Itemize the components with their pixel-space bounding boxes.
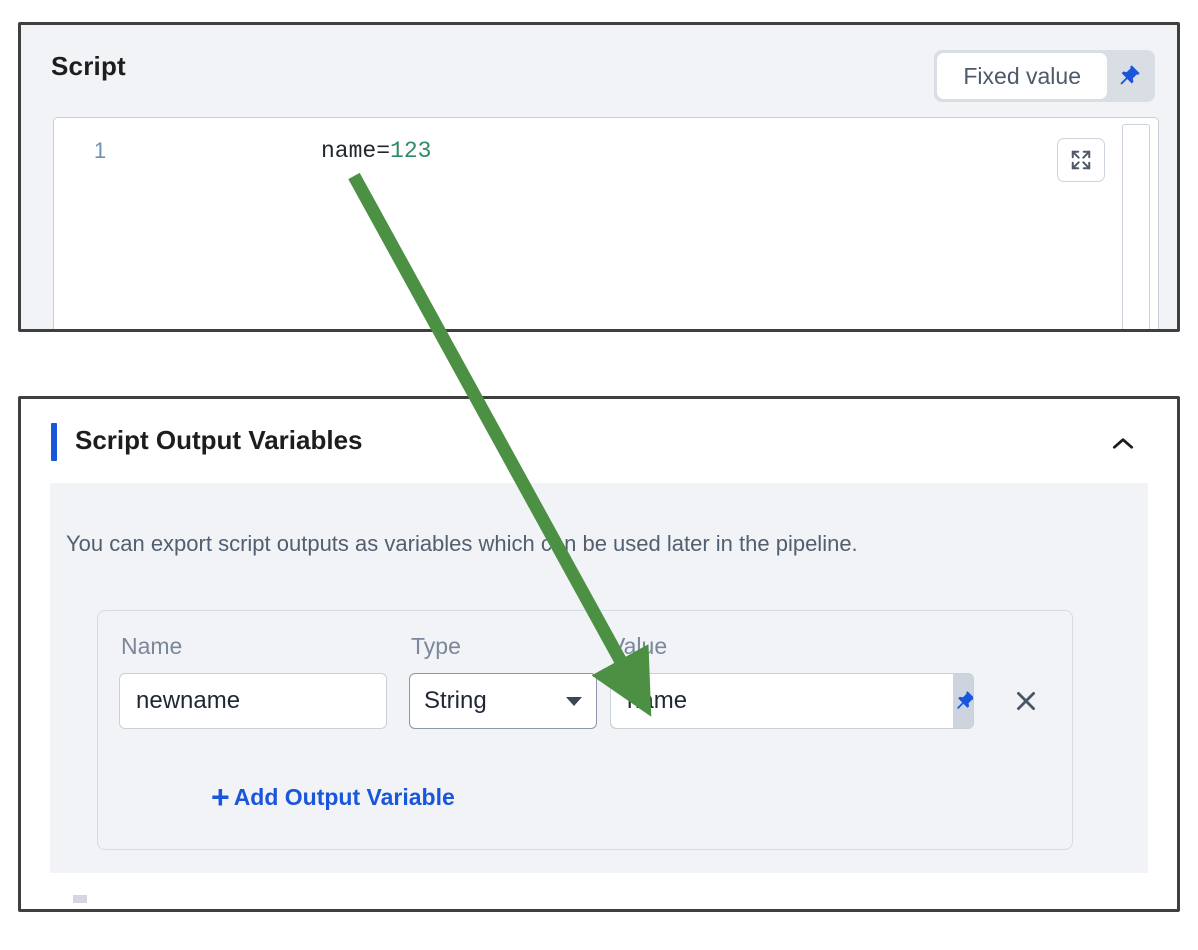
panel-bottom-fragment [73, 895, 87, 903]
column-header-type: Type [411, 633, 461, 660]
section-title: Script Output Variables [75, 425, 363, 456]
script-panel: Script Fixed value 1 name=123 [18, 22, 1180, 332]
pin-icon[interactable] [1107, 53, 1151, 99]
script-output-variables-panel: Script Output Variables You can export s… [18, 396, 1180, 912]
screenshot-root: Script Fixed value 1 name=123 [0, 0, 1198, 950]
expand-icon[interactable] [1057, 138, 1105, 182]
variable-value-input[interactable] [611, 674, 953, 728]
output-variables-table: Name Type Value String [97, 610, 1073, 850]
fixed-value-button[interactable]: Fixed value [937, 53, 1107, 99]
code-content: name=123 [321, 138, 431, 164]
script-panel-header: Script Fixed value [21, 25, 1177, 113]
variable-type-select[interactable]: String [409, 673, 597, 729]
close-icon[interactable] [1000, 673, 1052, 729]
chevron-down-icon [566, 697, 582, 706]
page-title: Script [51, 51, 126, 82]
line-number: 1 [54, 138, 146, 164]
table-column-headers: Name Type Value [98, 611, 1072, 667]
section-description: You can export script outputs as variabl… [66, 531, 858, 557]
add-output-variable-button[interactable]: + Add Output Variable [211, 781, 455, 813]
code-token-number: 123 [390, 138, 431, 164]
column-header-name: Name [121, 633, 182, 660]
output-variables-header: Script Output Variables [21, 399, 1177, 483]
output-variables-card: You can export script outputs as variabl… [50, 483, 1148, 873]
variable-name-input[interactable] [119, 673, 387, 729]
code-token-plain: name= [321, 138, 390, 164]
chevron-up-icon[interactable] [1103, 425, 1143, 463]
table-row: String [98, 673, 1072, 737]
pin-icon[interactable] [953, 674, 974, 728]
variable-value-group [610, 673, 974, 729]
editor-vertical-scrollbar[interactable] [1122, 124, 1150, 329]
section-accent-bar [51, 423, 57, 461]
fixed-value-control-group: Fixed value [934, 50, 1155, 102]
script-code-editor[interactable]: 1 name=123 [53, 117, 1159, 329]
add-output-variable-label: Add Output Variable [234, 784, 455, 811]
plus-icon: + [211, 781, 230, 813]
variable-type-value: String [424, 687, 566, 715]
code-line-1: 1 name=123 [54, 134, 431, 168]
column-header-value: Value [610, 633, 667, 660]
